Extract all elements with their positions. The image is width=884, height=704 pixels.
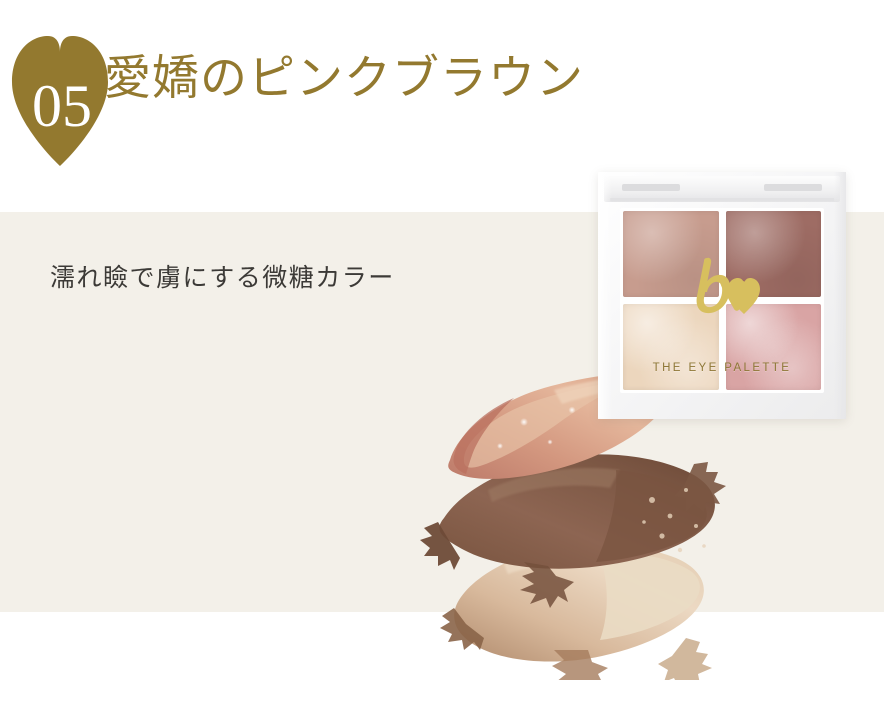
- pan-top-left: [623, 211, 719, 297]
- lid-seam: [610, 198, 834, 201]
- badge-number: 05: [8, 30, 112, 166]
- subtitle: 濡れ瞼で虜にする微糖カラー: [50, 258, 395, 294]
- brand-text: THE EYE PALETTE: [598, 362, 846, 374]
- pan-bottom-right: [726, 304, 822, 390]
- lid-tab-left: [622, 184, 680, 191]
- eye-palette-product: THE EYE PALETTE: [598, 172, 846, 419]
- pan-top-right: [726, 211, 822, 297]
- lid-tab-right: [764, 184, 822, 191]
- page-root: 05 愛嬌のピンクブラウン 濡れ瞼で虜にする微糖カラー: [0, 0, 884, 704]
- pan-bottom-left: [623, 304, 719, 390]
- page-title: 愛嬌のピンクブラウン: [104, 55, 584, 102]
